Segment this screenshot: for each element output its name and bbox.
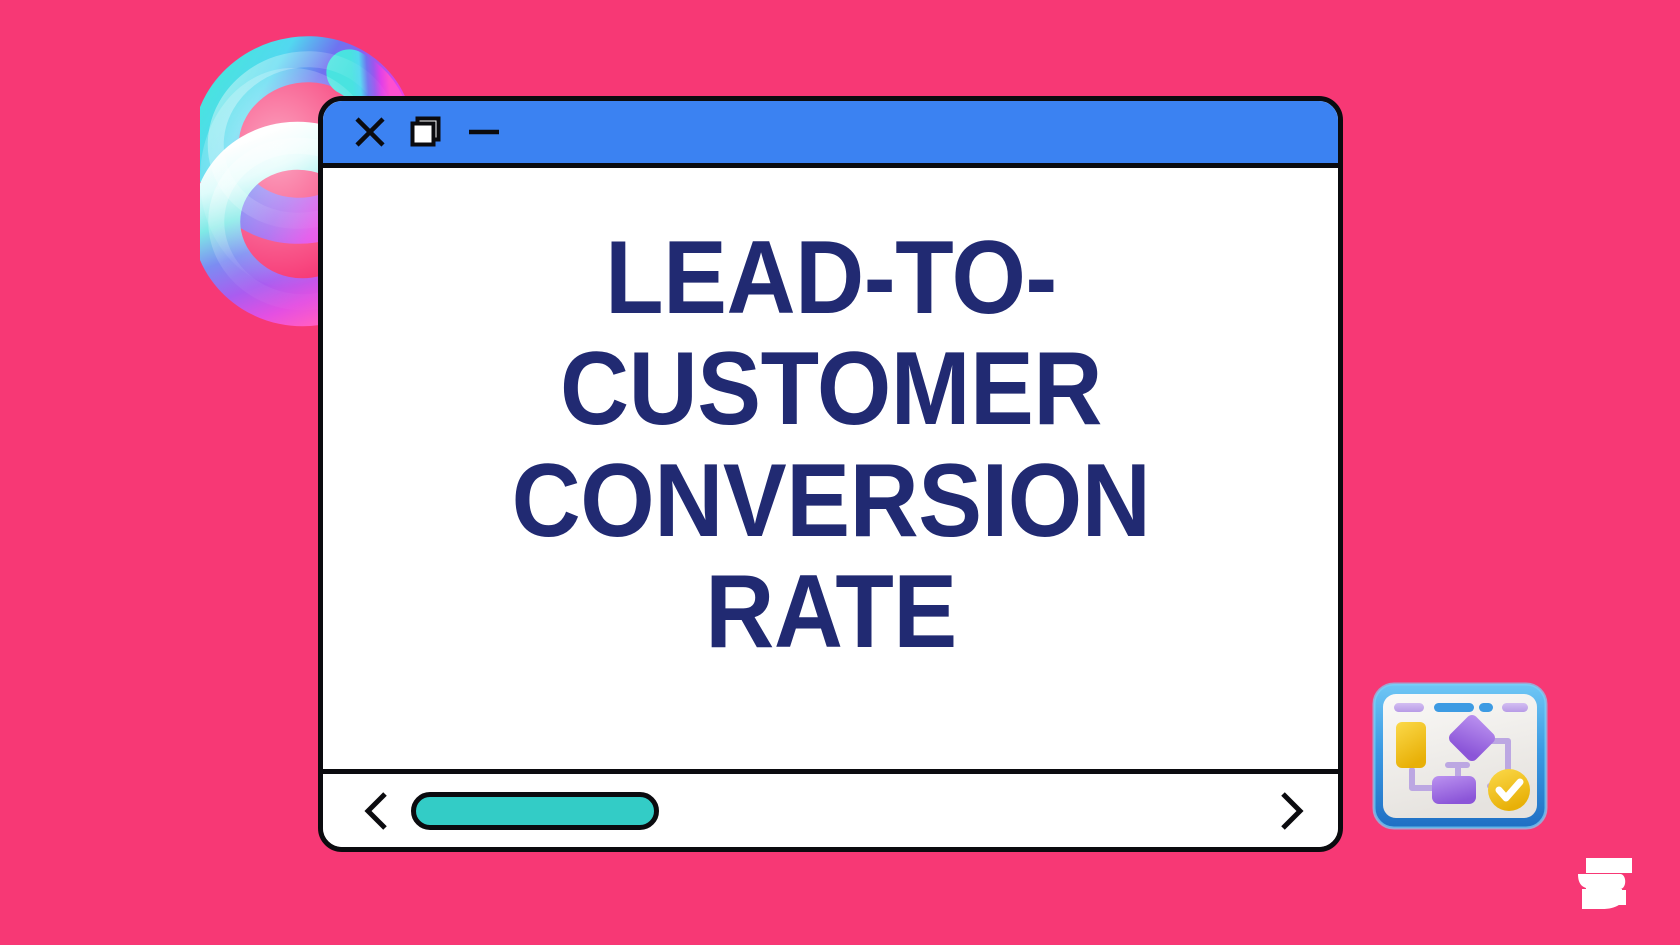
prev-arrow-icon[interactable] <box>363 790 389 832</box>
browser-window: LEAD-TO-CUSTOMER CONVERSION RATE <box>318 96 1343 852</box>
window-nav-bar <box>323 769 1338 847</box>
slide-canvas: LEAD-TO-CUSTOMER CONVERSION RATE <box>0 0 1680 945</box>
brand-logo-icon <box>1570 852 1644 922</box>
minimize-icon[interactable] <box>465 115 503 149</box>
horizontal-scrollbar-track[interactable] <box>411 791 1256 831</box>
window-title-bar <box>323 101 1338 168</box>
next-arrow-icon[interactable] <box>1278 790 1304 832</box>
window-content-area: LEAD-TO-CUSTOMER CONVERSION RATE <box>323 168 1338 769</box>
horizontal-scrollbar-thumb[interactable] <box>411 792 659 830</box>
close-icon[interactable] <box>353 115 387 149</box>
restore-icon[interactable] <box>409 115 443 149</box>
page-title: LEAD-TO-CUSTOMER CONVERSION RATE <box>398 223 1263 668</box>
flowchart-icon <box>1372 682 1548 830</box>
